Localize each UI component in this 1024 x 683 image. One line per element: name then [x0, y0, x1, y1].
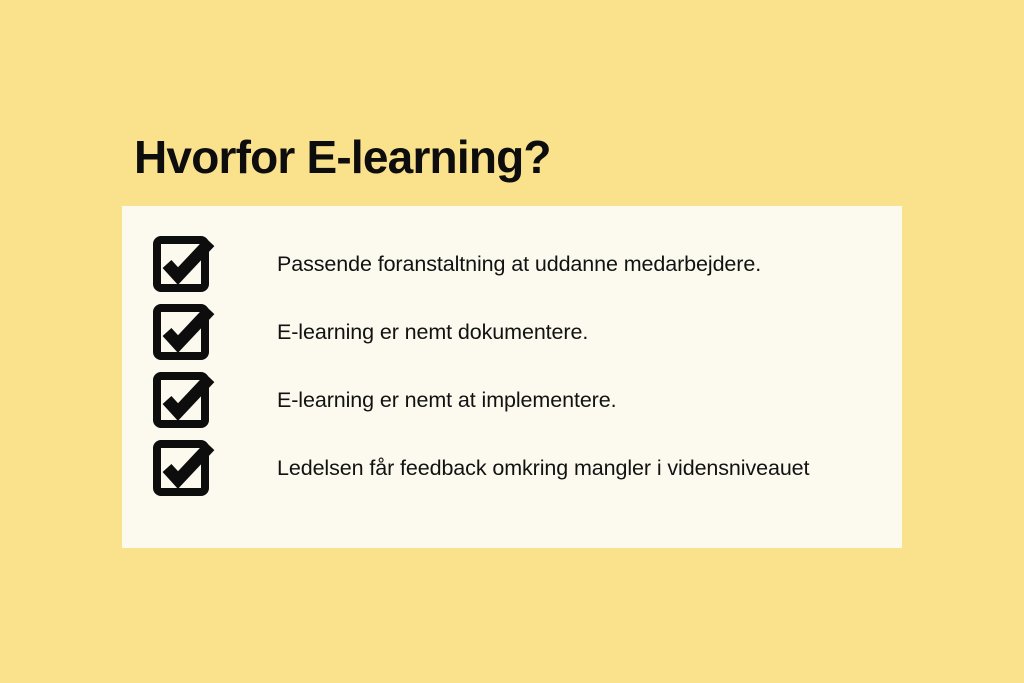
list-item[interactable]: E-learning er nemt at implementere. [153, 372, 873, 428]
checkbox-checked-icon[interactable] [153, 440, 213, 496]
list-item[interactable]: Ledelsen får feedback omkring mangler i … [153, 440, 873, 496]
checkbox-checked-icon[interactable] [153, 236, 213, 292]
list-item[interactable]: Passende foranstaltning at uddanne medar… [153, 236, 873, 292]
slide-canvas: Hvorfor E-learning? Passende foranstaltn… [0, 0, 1024, 683]
page-title: Hvorfor E-learning? [134, 132, 551, 183]
checkbox-checked-icon[interactable] [153, 372, 213, 428]
list-item-label: E-learning er nemt dokumentere. [277, 320, 588, 345]
checklist-card: Passende foranstaltning at uddanne medar… [122, 206, 902, 548]
list-item-label: Passende foranstaltning at uddanne medar… [277, 252, 761, 277]
list-item[interactable]: E-learning er nemt dokumentere. [153, 304, 873, 360]
checkbox-checked-icon[interactable] [153, 304, 213, 360]
list-item-label: E-learning er nemt at implementere. [277, 388, 616, 413]
list-item-label: Ledelsen får feedback omkring mangler i … [277, 456, 809, 481]
checklist: Passende foranstaltning at uddanne medar… [153, 236, 873, 496]
